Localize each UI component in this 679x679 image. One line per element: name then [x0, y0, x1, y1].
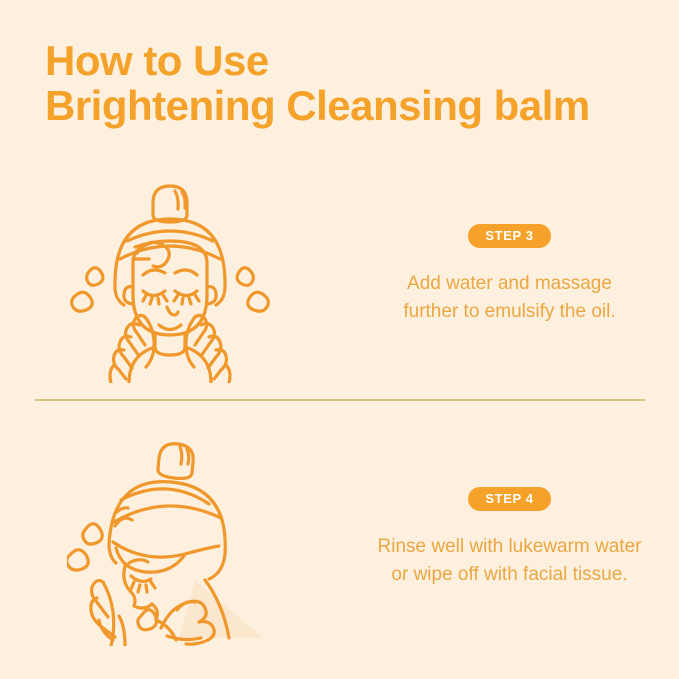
page-title: How to Use Brightening Cleansing balm [45, 38, 645, 129]
woman-massaging-face-icon [67, 167, 273, 383]
woman-rinsing-face-icon [67, 430, 273, 646]
step-3-illustration-cell [0, 167, 340, 383]
step-4-description-line-1: Rinse well with lukewarm water [378, 533, 642, 561]
section-divider [35, 399, 645, 401]
step-4-text-cell: STEP 4 Rinse well with lukewarm water or… [340, 487, 679, 588]
how-to-use-panel: How to Use Brightening Cleansing balm [0, 0, 679, 679]
status-badge-step-4: STEP 4 [468, 487, 550, 511]
step-3-description-line-1: Add water and massage [403, 270, 615, 298]
page-title-line-1: How to Use [45, 38, 645, 83]
step-4-description-line-2: or wipe off with facial tissue. [378, 561, 642, 589]
step-3-description: Add water and massage further to emulsif… [403, 270, 615, 325]
step-3-text-cell: STEP 3 Add water and massage further to … [340, 224, 679, 325]
step-3-description-line-2: further to emulsify the oil. [403, 298, 615, 326]
page-title-line-2: Brightening Cleansing balm [45, 83, 645, 128]
step-4-illustration-cell [0, 430, 340, 646]
status-badge-step-3: STEP 3 [468, 224, 550, 248]
step-row-3: STEP 3 Add water and massage further to … [0, 160, 679, 390]
step-4-description: Rinse well with lukewarm water or wipe o… [378, 533, 642, 588]
step-row-4: STEP 4 Rinse well with lukewarm water or… [0, 420, 679, 655]
